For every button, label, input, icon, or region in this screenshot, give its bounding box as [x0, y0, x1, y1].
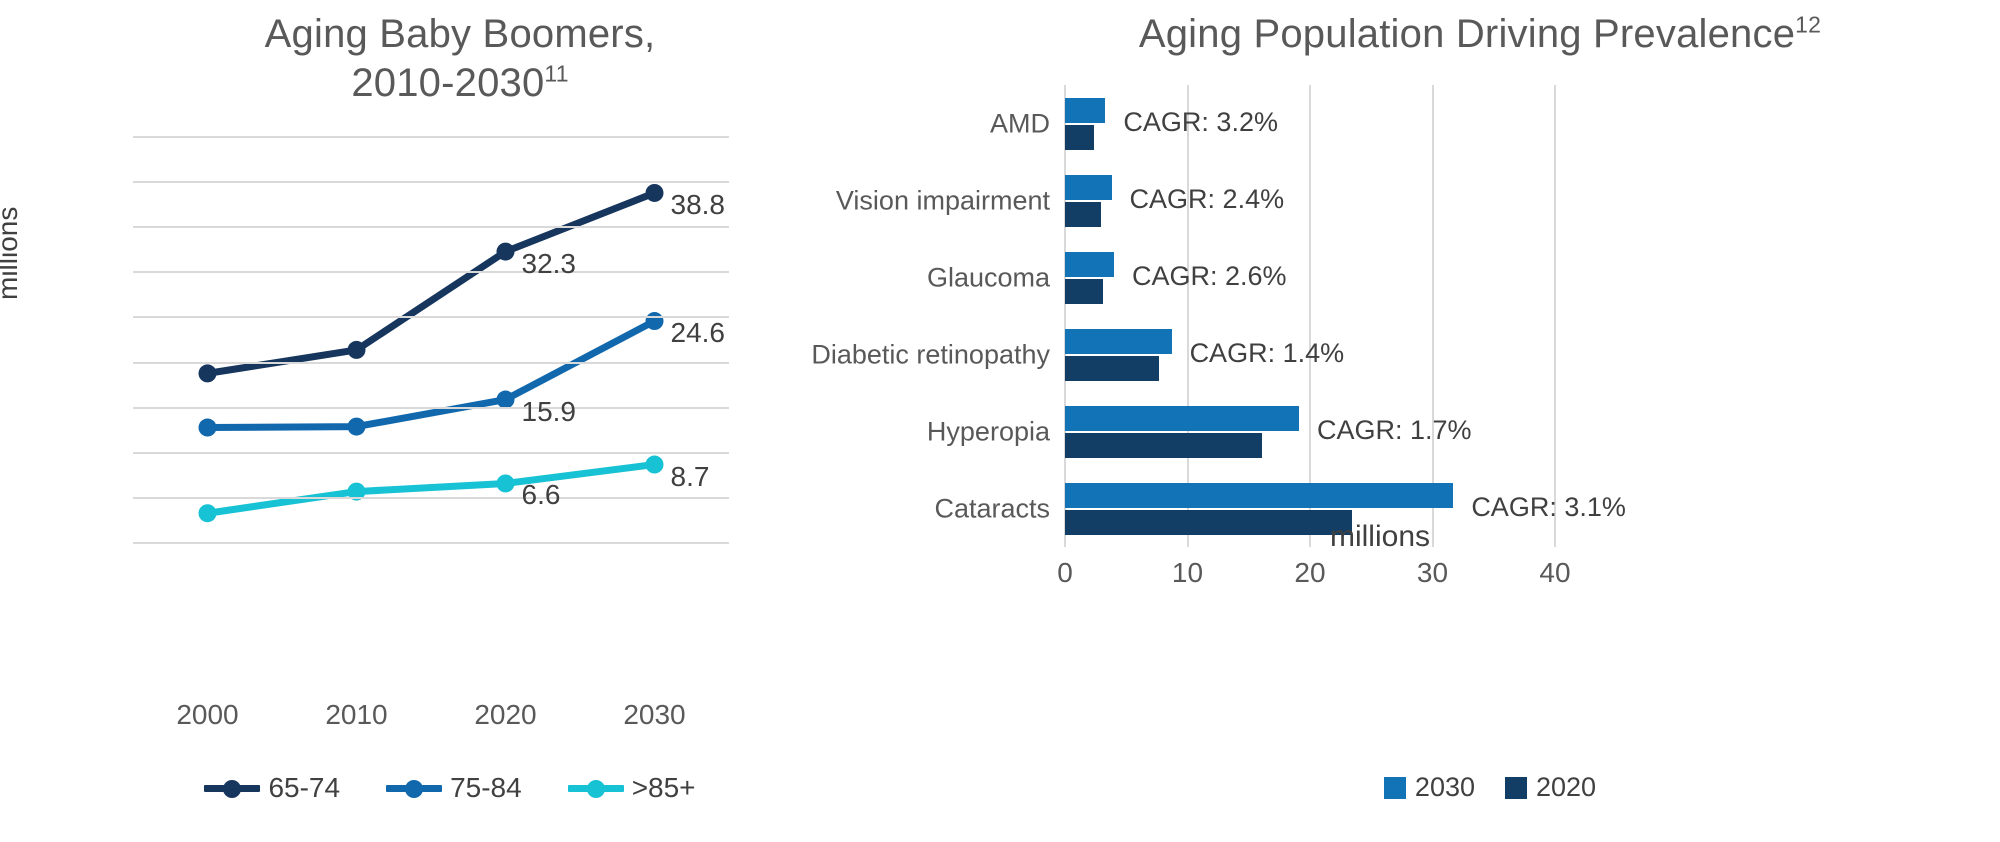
- bar-chart-panel: Aging Population Driving Prevalence12 01…: [980, 0, 2000, 842]
- category-label: Glaucoma: [630, 278, 1050, 309]
- bar-2030: [1065, 252, 1114, 277]
- data-point-marker: [497, 474, 515, 492]
- line-series-path: [208, 193, 655, 373]
- data-point-marker: [497, 243, 515, 261]
- gridline: [133, 181, 729, 183]
- category-label: AMD: [630, 124, 1050, 155]
- cagr-annotation: CAGR: 2.4%: [1130, 184, 1285, 215]
- bar-2020: [1065, 433, 1262, 458]
- cagr-annotation: CAGR: 3.2%: [1123, 107, 1278, 138]
- bar-2030: [1065, 483, 1453, 508]
- line-series-path: [208, 321, 655, 427]
- legend-item-2020[interactable]: 2020: [1505, 772, 1596, 803]
- x-axis-tick-label: 2010: [277, 699, 437, 731]
- gridline: [1187, 85, 1189, 547]
- bar-chart-title: Aging Population Driving Prevalence12: [880, 10, 2000, 59]
- data-point-marker: [199, 364, 217, 382]
- legend-item-75-84[interactable]: 75-84: [386, 772, 522, 804]
- legend-label: 2030: [1415, 772, 1475, 803]
- x-axis-tick-label: 30: [1373, 557, 1493, 589]
- bar-2020: [1065, 202, 1101, 227]
- category-label: Cataracts: [630, 509, 1050, 540]
- data-point-marker: [199, 504, 217, 522]
- line-chart-title-line1: Aging Baby Boomers,: [265, 12, 656, 56]
- x-axis-tick-label: 40: [1495, 557, 1615, 589]
- category-label: Vision impairment: [630, 201, 1050, 232]
- legend-label: >85+: [632, 772, 696, 804]
- data-point-marker: [348, 418, 366, 436]
- legend-item-65-74[interactable]: 65-74: [204, 772, 340, 804]
- legend-item-2030[interactable]: 2030: [1384, 772, 1475, 803]
- bar-2030: [1065, 175, 1112, 200]
- gridline: [1554, 85, 1556, 547]
- category-label: Diabetic retinopathy: [630, 355, 1050, 386]
- gridline: [133, 407, 729, 409]
- line-series-path: [208, 465, 655, 514]
- gridline: [133, 542, 729, 544]
- data-point-marker: [199, 419, 217, 437]
- x-axis-tick-label: 20: [1250, 557, 1370, 589]
- data-point-label: 6.6: [522, 479, 561, 511]
- data-point-label: 15.9: [522, 396, 577, 428]
- cagr-annotation: CAGR: 1.7%: [1317, 415, 1472, 446]
- bar-2030: [1065, 329, 1172, 354]
- line-chart-title: Aging Baby Boomers, 2010-203011: [110, 10, 810, 108]
- x-axis-tick-label: 2020: [426, 699, 586, 731]
- bar-chart-title-text: Aging Population Driving Prevalence: [1139, 12, 1795, 56]
- legend-label: 65-74: [268, 772, 340, 804]
- line-chart-title-line2: 2010-2030: [351, 61, 544, 105]
- data-point-marker: [646, 312, 664, 330]
- x-axis-tick-label: 10: [1128, 557, 1248, 589]
- cagr-annotation: CAGR: 3.1%: [1471, 492, 1626, 523]
- legend-swatch-icon: [1384, 777, 1406, 799]
- x-axis-tick-label: 0: [1005, 557, 1125, 589]
- bar-2020: [1065, 279, 1103, 304]
- x-axis-tick-label: 2000: [128, 699, 288, 731]
- category-label: Hyperopia: [630, 432, 1050, 463]
- gridline: [1309, 85, 1311, 547]
- line-chart-legend: 65-74 75-84 >85+: [0, 772, 900, 804]
- gridline: [1432, 85, 1434, 547]
- legend-label: 2020: [1536, 772, 1596, 803]
- bar-chart-x-axis-title: millions: [1180, 520, 1580, 554]
- cagr-annotation: CAGR: 2.6%: [1132, 261, 1287, 292]
- legend-line-marker-icon: [386, 778, 442, 798]
- bar-2030: [1065, 98, 1105, 123]
- line-chart-y-axis-title: millions: [0, 207, 24, 300]
- legend-swatch-icon: [1505, 777, 1527, 799]
- bar-chart-legend: 2030 2020: [980, 772, 2000, 803]
- bar-2020: [1065, 356, 1159, 381]
- legend-line-marker-icon: [204, 778, 260, 798]
- bar-chart-title-superscript: 12: [1795, 12, 1821, 38]
- x-axis-tick-label: 2030: [575, 699, 735, 731]
- cagr-annotation: CAGR: 1.4%: [1190, 338, 1345, 369]
- bar-2030: [1065, 406, 1299, 431]
- bar-chart-plot-area: 010203040AMDCAGR: 3.2%Vision impairmentC…: [1065, 85, 1555, 547]
- legend-label: 75-84: [450, 772, 522, 804]
- legend-item-85-plus[interactable]: >85+: [568, 772, 696, 804]
- legend-line-marker-icon: [568, 778, 624, 798]
- data-point-label: 32.3: [522, 248, 577, 280]
- chart-canvas: Aging Baby Boomers, 2010-203011 millions…: [0, 0, 2000, 842]
- bar-2020: [1065, 125, 1094, 150]
- data-point-label: 8.7: [671, 461, 710, 493]
- gridline: [1064, 85, 1066, 547]
- gridline: [133, 316, 729, 318]
- data-point-marker: [348, 341, 366, 359]
- line-chart-title-superscript: 11: [544, 60, 568, 86]
